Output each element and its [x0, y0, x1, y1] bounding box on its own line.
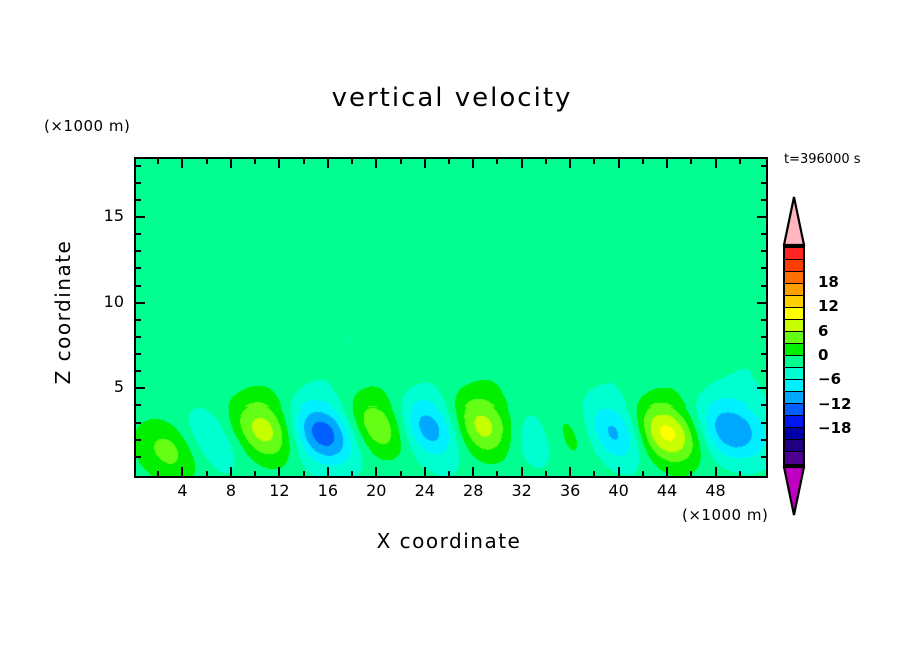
colorbar-band [785, 392, 803, 404]
x-tick [569, 159, 571, 168]
y-tick [136, 182, 141, 184]
time-annotation: t=396000 s [784, 152, 861, 167]
x-tick [618, 467, 620, 476]
x-tick [400, 159, 402, 164]
x-tick [666, 467, 668, 476]
colorbar-bands [783, 246, 805, 466]
colorbar-tick-label: −18 [818, 419, 851, 437]
x-tick [642, 159, 644, 164]
x-tick [181, 467, 183, 476]
colorbar-band [785, 356, 803, 368]
x-tick [254, 471, 256, 476]
y-tick [761, 319, 766, 321]
x-tick [230, 467, 232, 476]
x-tick [424, 159, 426, 168]
y-tick [136, 319, 141, 321]
x-tick [375, 159, 377, 168]
y-tick [136, 456, 141, 458]
x-tick-label: 16 [308, 481, 348, 500]
colorbar-band [785, 344, 803, 356]
x-tick [521, 159, 523, 168]
x-tick [424, 467, 426, 476]
colorbar-band [785, 332, 803, 344]
x-tick-label: 8 [211, 481, 251, 500]
y-tick-label: 15 [84, 206, 124, 225]
y-axis-title: Z coordinate [51, 212, 75, 412]
y-tick [761, 422, 766, 424]
x-tick-label: 44 [647, 481, 687, 500]
colorbar-band [785, 320, 803, 332]
colorbar-band [785, 272, 803, 284]
y-tick [136, 404, 141, 406]
colorbar-band [785, 284, 803, 296]
colorbar-tick-label: 0 [818, 346, 828, 364]
x-tick [375, 467, 377, 476]
y-tick [136, 439, 141, 441]
x-tick [278, 467, 280, 476]
x-tick [593, 471, 595, 476]
y-tick [761, 336, 766, 338]
y-tick [136, 353, 141, 355]
x-tick-label: 48 [696, 481, 736, 500]
x-tick [157, 471, 159, 476]
y-tick [136, 199, 141, 201]
y-tick [136, 370, 141, 372]
y-tick [761, 233, 766, 235]
colorbar-band [785, 308, 803, 320]
colorbar-band [785, 440, 803, 452]
x-tick [569, 467, 571, 476]
x-axis-unit-label: (×1000 m) [682, 506, 768, 524]
colorbar-band [785, 296, 803, 308]
x-tick [472, 467, 474, 476]
x-tick [303, 471, 305, 476]
y-tick [136, 165, 141, 167]
y-tick [136, 267, 141, 269]
x-tick [181, 159, 183, 168]
y-tick-label: 5 [84, 377, 124, 396]
colorbar-tick-label: −6 [818, 370, 841, 388]
x-tick-label: 40 [599, 481, 639, 500]
colorbar-tick-label: 18 [818, 273, 839, 291]
x-tick [400, 471, 402, 476]
colorbar-band [785, 416, 803, 428]
y-tick [761, 353, 766, 355]
y-tick [761, 370, 766, 372]
x-axis-title: X coordinate [134, 529, 764, 553]
colorbar-band [785, 428, 803, 440]
x-tick [618, 159, 620, 168]
x-tick [278, 159, 280, 168]
y-tick [757, 387, 766, 389]
y-tick [136, 302, 145, 304]
figure-canvas: vertical velocity (×1000 m) t=396000 s 4… [0, 0, 904, 654]
x-tick [472, 159, 474, 168]
x-tick [230, 159, 232, 168]
x-tick [642, 471, 644, 476]
x-tick-label: 28 [453, 481, 493, 500]
x-tick [666, 159, 668, 168]
y-axis-unit-label: (×1000 m) [44, 117, 130, 135]
vertical-velocity-field [136, 159, 766, 476]
y-tick [136, 336, 141, 338]
x-tick [690, 159, 692, 164]
x-tick-label: 24 [405, 481, 445, 500]
x-tick [496, 159, 498, 164]
contour-plot-panel [134, 157, 768, 478]
colorbar-under-arrow-icon [782, 466, 806, 516]
y-tick [757, 216, 766, 218]
y-tick [761, 165, 766, 167]
x-tick-label: 36 [550, 481, 590, 500]
x-tick [351, 159, 353, 164]
colorbar-over-arrow-icon [782, 196, 806, 246]
colorbar-band [785, 452, 803, 464]
colorbar-band [785, 404, 803, 416]
y-tick [761, 285, 766, 287]
x-tick [593, 159, 595, 164]
x-tick [157, 159, 159, 164]
y-tick [761, 456, 766, 458]
colorbar-band [785, 248, 803, 260]
y-tick [136, 216, 145, 218]
x-tick-label: 4 [162, 481, 202, 500]
x-tick [448, 159, 450, 164]
x-tick [254, 159, 256, 164]
y-tick [761, 439, 766, 441]
x-tick [715, 159, 717, 168]
x-tick [327, 159, 329, 168]
y-tick [136, 387, 145, 389]
x-tick [545, 471, 547, 476]
y-tick-label: 10 [84, 292, 124, 311]
y-tick [761, 182, 766, 184]
colorbar-band [785, 368, 803, 380]
x-tick [715, 467, 717, 476]
colorbar-tick-label: 12 [818, 297, 839, 315]
x-tick [303, 159, 305, 164]
figure-title: vertical velocity [0, 83, 904, 113]
x-tick [206, 159, 208, 164]
x-tick [448, 471, 450, 476]
y-tick [136, 233, 141, 235]
x-tick [521, 467, 523, 476]
y-tick [136, 250, 141, 252]
y-tick [757, 302, 766, 304]
x-tick [545, 159, 547, 164]
colorbar-tick-label: 6 [818, 322, 828, 340]
colorbar-band [785, 380, 803, 392]
x-tick [739, 471, 741, 476]
colorbar-band [785, 260, 803, 272]
y-tick [761, 404, 766, 406]
y-tick [761, 267, 766, 269]
colorbar[interactable] [782, 196, 806, 516]
x-tick [351, 471, 353, 476]
y-tick [136, 422, 141, 424]
x-tick-label: 12 [259, 481, 299, 500]
x-tick [739, 159, 741, 164]
x-tick [206, 471, 208, 476]
x-tick-label: 32 [502, 481, 542, 500]
colorbar-tick-label: −12 [818, 395, 851, 413]
y-tick [761, 250, 766, 252]
y-tick [136, 285, 141, 287]
x-tick [690, 471, 692, 476]
x-tick-label: 20 [356, 481, 396, 500]
x-tick [496, 471, 498, 476]
y-tick [761, 199, 766, 201]
x-tick [327, 467, 329, 476]
